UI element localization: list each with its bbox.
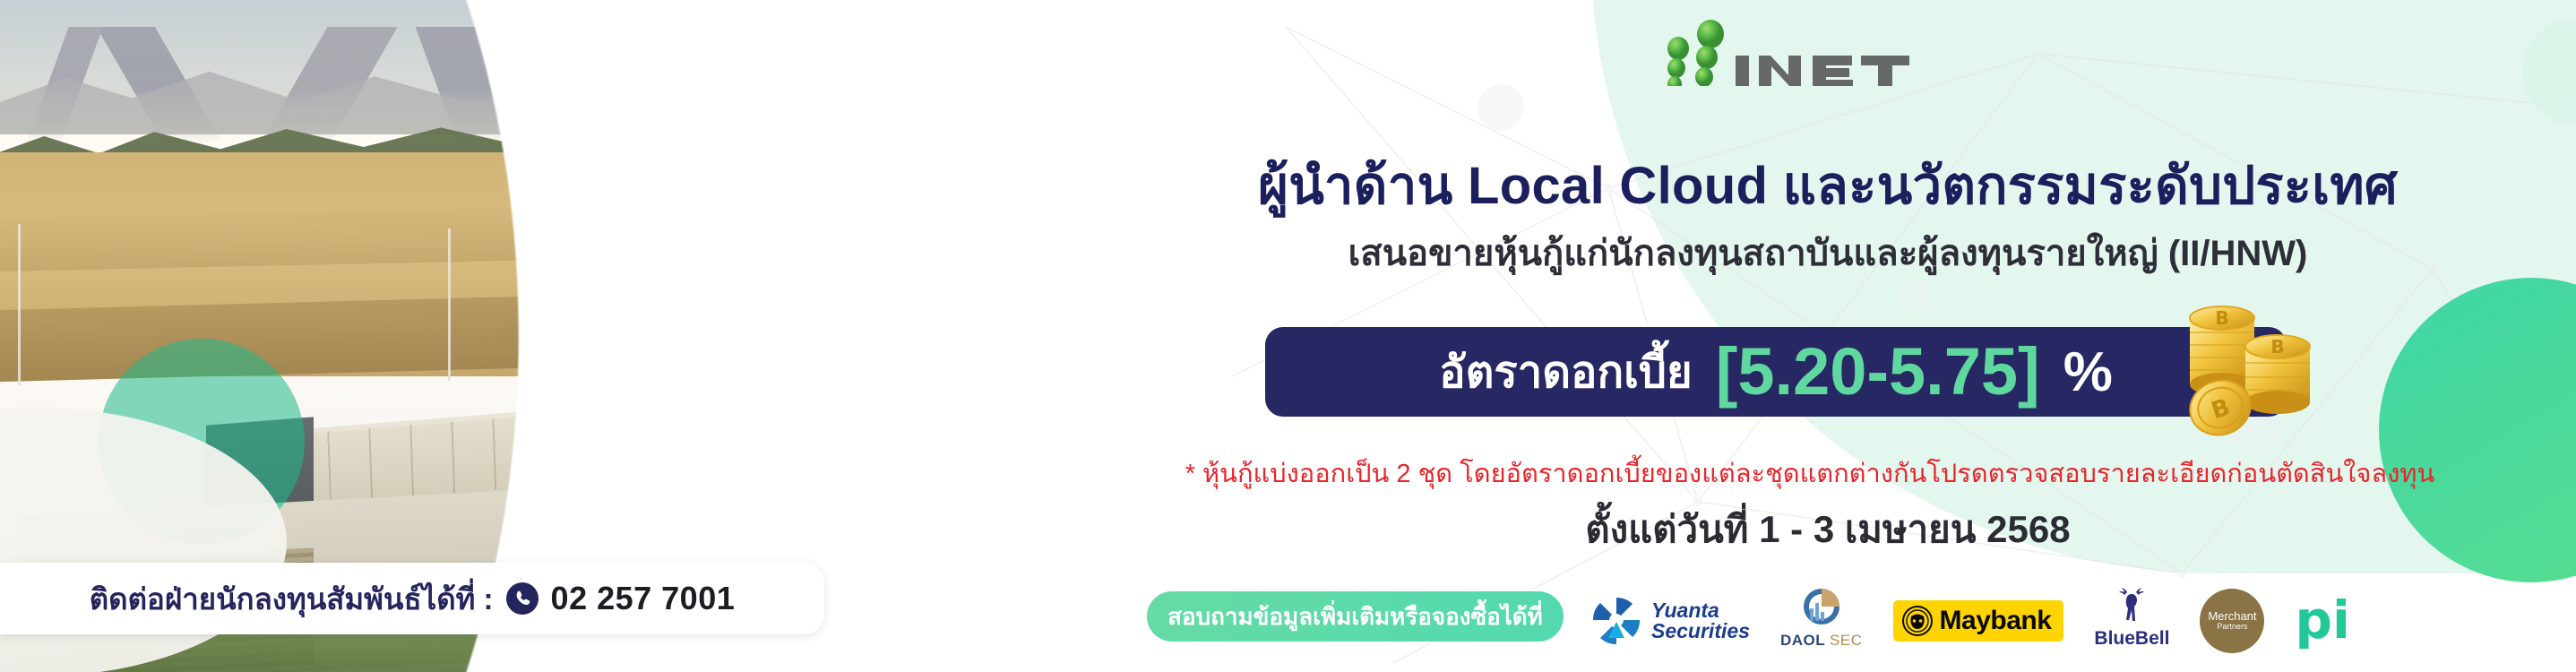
offering-date: ตั้งแต่วันที่ 1 - 3 เมษายน 2568 [1192,500,2464,559]
contact-phone-number: 02 257 7001 [551,580,736,617]
partner-maybank[interactable]: Maybank [1893,585,2064,657]
partner-pi[interactable]: pi [2295,585,2349,657]
partner-logos: Yuanta Securities DAOL SEC [1590,582,2554,659]
interest-rate-block: อัตราดอกเบี้ย [5.20-5.75] % [1265,327,2287,417]
svg-text:B: B [2215,307,2228,329]
contact-label: ติดต่อฝ่ายนักลงทุนสัมพันธ์ได้ที่ : [90,575,494,623]
yuanta-star-icon [1590,595,1642,647]
partner-yuanta[interactable]: Yuanta Securities [1590,585,1750,657]
disclaimer-text: * หุ้นกู้แบ่งออกเป็น 2 ชุด โดยอัตราดอกเบ… [1057,452,2563,494]
interest-rate-label: อัตราดอกเบี้ย [1439,337,1693,407]
bluebell-label: BlueBell [2094,628,2169,650]
daol-label: DAOL SEC [1780,632,1863,650]
contact-box: ติดต่อฝ่ายนักลงทุนสัมพันธ์ได้ที่ : 02 25… [0,563,824,634]
interest-rate-percent: % [2063,340,2113,404]
gold-coins-icon: B B B [2170,295,2331,438]
page-subtitle: เสนอขายหุ้นกู้แก่นักลงทุนสถาบันและผู้ลงท… [1192,224,2464,281]
interest-rate-value: [5.20-5.75] [1716,339,2040,405]
promo-banner: ผู้นำด้าน Local Cloud และนวัตกรรมระดับปร… [0,0,2576,672]
maybank-label: Maybank [1940,606,2052,636]
phone-icon [506,582,538,615]
maybank-tiger-icon [1902,606,1933,636]
svg-text:B: B [2270,336,2284,358]
partner-bluebell[interactable]: BlueBell [2094,585,2169,657]
inet-logo [1653,16,2029,86]
partner-merchant[interactable]: Merchant Partners [2200,585,2264,657]
merchant-label-2: Partners [2217,623,2247,631]
merchant-circle-icon: Merchant Partners [2200,589,2264,653]
bluebell-deer-icon [2111,585,2152,626]
partner-daol[interactable]: DAOL SEC [1780,585,1863,657]
daol-pie-icon [1797,585,1846,628]
merchant-label-1: Merchant [2208,610,2256,623]
yuanta-label-2: Securities [1651,621,1750,642]
pi-logo-icon: pi [2295,599,2349,641]
cta-button[interactable]: สอบถามข้อมูลเพิ่มเติมหรือจองซื้อได้ที่ [1147,591,1564,642]
interest-rate-box: อัตราดอกเบี้ย [5.20-5.75] % [1265,327,2287,417]
inet-dots-icon [1667,20,1724,86]
yuanta-label-1: Yuanta [1651,600,1750,621]
page-title: ผู้นำด้าน Local Cloud และนวัตกรรมระดับปร… [1192,143,2464,227]
